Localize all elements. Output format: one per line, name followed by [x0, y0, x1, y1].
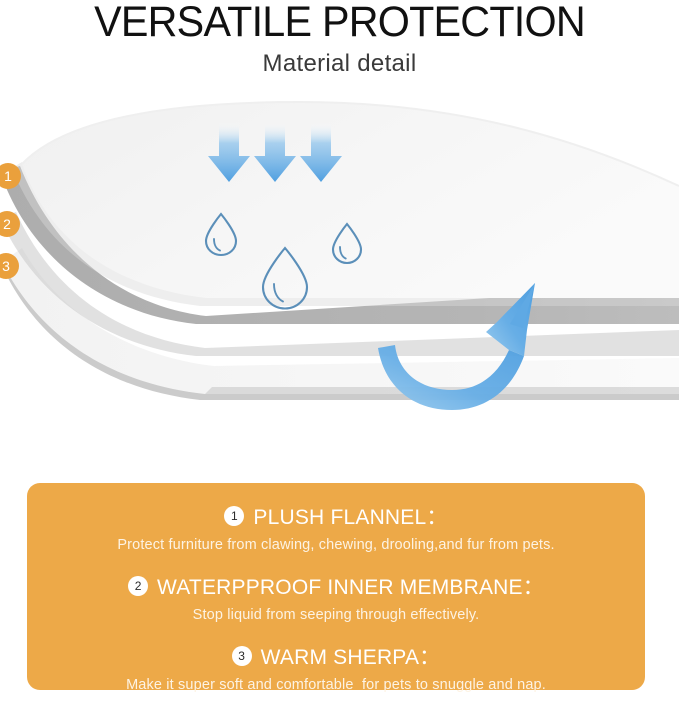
features-panel: 1 PLUSH FLANNEL： Protect furniture from …	[27, 483, 645, 690]
feature-heading: 2 WATERPPROOF INNER MEMBRANE：	[27, 571, 645, 601]
feature-heading: 1 PLUSH FLANNEL：	[27, 501, 645, 531]
feature-number-badge: 3	[232, 646, 252, 666]
feature-description: Make it super soft and comfortable for p…	[27, 677, 645, 693]
page-subtitle: Material detail	[0, 50, 679, 78]
feature-title: WATERPPROOF INNER MEMBRANE：	[157, 571, 544, 601]
page-title: VERSATILE PROTECTION	[14, 0, 666, 47]
feature-item: 3 WARM SHERPA： Make it super soft and co…	[27, 641, 645, 693]
feature-description: Stop liquid from seeping through effecti…	[27, 607, 645, 623]
feature-title: PLUSH FLANNEL：	[253, 501, 447, 531]
layer-1-plush-flannel	[12, 102, 679, 306]
down-arrow-icon	[208, 122, 342, 182]
material-layers-diagram: 1 2 3	[0, 100, 679, 470]
feature-description: Protect furniture from clawing, chewing,…	[27, 537, 645, 553]
feature-heading: 3 WARM SHERPA：	[27, 641, 645, 671]
feature-item: 1 PLUSH FLANNEL： Protect furniture from …	[27, 501, 645, 553]
feature-number-badge: 2	[128, 576, 148, 596]
feature-title: WARM SHERPA：	[261, 641, 441, 671]
feature-number-badge: 1	[224, 506, 244, 526]
feature-item: 2 WATERPPROOF INNER MEMBRANE： Stop liqui…	[27, 571, 645, 623]
